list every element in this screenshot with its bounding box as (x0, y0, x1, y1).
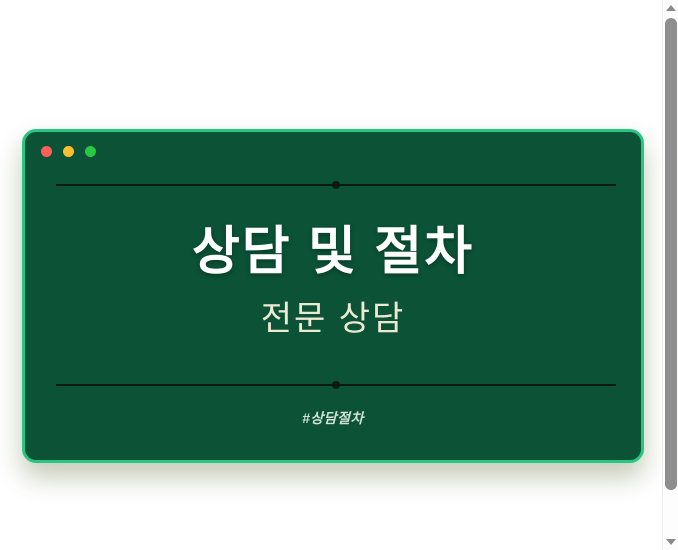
hashtag-label: #상담절차 (25, 408, 641, 428)
scrollbar-thumb[interactable] (665, 18, 677, 490)
slide-text-block: 상담 및 절차 전문 상담 (25, 184, 641, 384)
divider-node-icon (332, 381, 340, 389)
close-icon[interactable] (41, 146, 52, 157)
slide-card: 상담 및 절차 전문 상담 #상담절차 (22, 129, 644, 463)
maximize-icon[interactable] (85, 146, 96, 157)
page-subtitle: 전문 상담 (261, 301, 406, 338)
scroll-up-arrow-icon[interactable] (663, 0, 678, 16)
divider-bottom (56, 384, 616, 386)
vertical-scrollbar[interactable] (662, 0, 678, 550)
window-controls (41, 146, 96, 157)
page-title: 상담 및 절차 (192, 224, 474, 281)
page-canvas: 상담 및 절차 전문 상담 #상담절차 (0, 0, 662, 550)
scroll-down-arrow-icon[interactable] (663, 534, 678, 550)
minimize-icon[interactable] (63, 146, 74, 157)
chevron-down-icon (666, 539, 676, 545)
chevron-up-icon (666, 5, 676, 11)
